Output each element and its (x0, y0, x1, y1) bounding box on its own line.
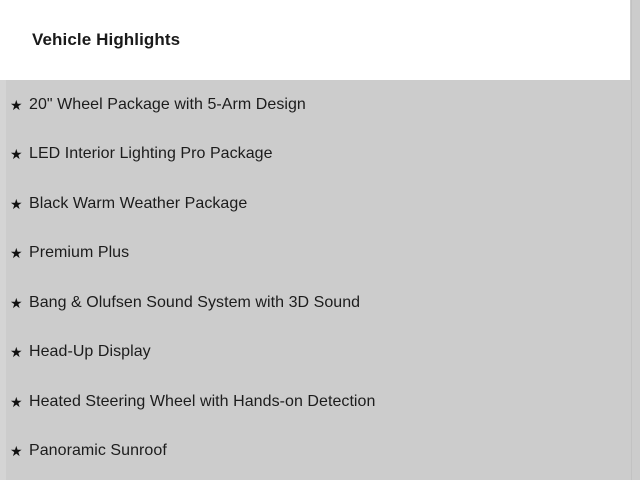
highlight-item-label: Panoramic Sunroof (29, 441, 167, 461)
star-icon: ★ (10, 443, 22, 459)
vehicle-highlights-panel: Vehicle Highlights ★20" Wheel Package wi… (0, 0, 640, 480)
highlight-item-label: Bang & Olufsen Sound System with 3D Soun… (29, 293, 360, 313)
star-icon: ★ (10, 146, 22, 162)
highlight-item-label: Head-Up Display (29, 342, 151, 362)
star-icon: ★ (10, 344, 22, 360)
highlight-list-item: ★Heated Steering Wheel with Hands-on Det… (0, 377, 630, 427)
highlight-list-item: ★Bang & Olufsen Sound System with 3D Sou… (0, 278, 630, 328)
highlight-item-label: Premium Plus (29, 243, 129, 263)
highlight-list-item: ★20" Wheel Package with 5-Arm Design (0, 80, 630, 130)
star-icon: ★ (10, 245, 22, 261)
star-icon: ★ (10, 295, 22, 311)
star-icon: ★ (10, 196, 22, 212)
highlight-list-item: ★Black Warm Weather Package (0, 179, 630, 229)
highlight-list-item: ★Head-Up Display (0, 328, 630, 378)
highlight-list-item: ★Premium Plus (0, 229, 630, 279)
star-icon: ★ (10, 394, 22, 410)
highlight-item-label: 20" Wheel Package with 5-Arm Design (29, 95, 306, 115)
highlight-list-item: ★LED Interior Lighting Pro Package (0, 130, 630, 180)
panel-header: Vehicle Highlights (0, 0, 640, 80)
star-icon: ★ (10, 97, 22, 113)
highlights-list: ★20" Wheel Package with 5-Arm Design★LED… (0, 80, 630, 476)
page-title: Vehicle Highlights (32, 30, 180, 50)
highlight-item-label: Black Warm Weather Package (29, 194, 247, 214)
highlight-item-label: LED Interior Lighting Pro Package (29, 144, 273, 164)
highlight-item-label: Heated Steering Wheel with Hands-on Dete… (29, 392, 375, 412)
highlight-list-item: ★Panoramic Sunroof (0, 427, 630, 477)
scroll-rail-divider (631, 0, 632, 480)
